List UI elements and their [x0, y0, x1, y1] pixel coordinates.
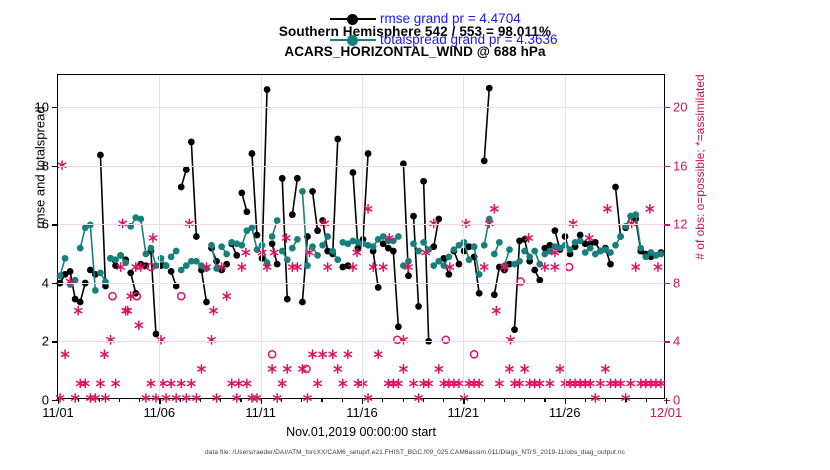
x-axis-minor-tick — [625, 398, 626, 402]
x-axis-tick-label: 11/16 — [346, 405, 378, 420]
legend-item-label: totalspread grand pr = 4.3636 — [380, 32, 558, 47]
gridline-horizontal — [58, 107, 664, 108]
gridline-vertical — [362, 75, 363, 398]
plot-area[interactable]: 024681004812162011/0111/0611/1111/1611/2… — [57, 74, 665, 399]
y-axis-left-tick — [52, 107, 58, 108]
x-axis-tick-label: 11/21 — [448, 405, 480, 420]
x-axis-minor-tick — [423, 398, 424, 402]
x-axis-tick-label: 11/26 — [549, 405, 581, 420]
x-axis-minor-tick — [403, 398, 404, 402]
x-axis-tick — [261, 398, 262, 404]
x-axis-minor-tick — [281, 398, 282, 402]
y-axis-right-label: # of obs: o=possible; *=assimilated — [693, 37, 707, 297]
x-axis-tick — [666, 398, 667, 404]
gridline-horizontal — [58, 341, 664, 342]
y-axis-left-tick-label: 10 — [35, 100, 49, 115]
y-axis-right-tick-label: 20 — [673, 100, 687, 115]
x-axis-tick — [463, 398, 464, 404]
x-axis-minor-tick — [139, 398, 140, 402]
x-axis-minor-tick — [605, 398, 606, 402]
x-axis-minor-tick — [443, 398, 444, 402]
x-axis-label: Nov.01,2019 00:00:00 start — [57, 425, 665, 439]
gridline-horizontal — [58, 224, 664, 225]
data-file-footer: data file: /Users/raeder/DAI/ATM_forcXX/… — [0, 449, 830, 456]
legend-item-totalspread[interactable]: totalspread grand pr = 4.3636 — [330, 29, 558, 50]
legend-marker-icon — [330, 34, 376, 46]
x-axis-minor-tick — [99, 398, 100, 402]
x-axis-minor-tick — [180, 398, 181, 402]
y-axis-right-tick — [664, 107, 670, 108]
x-axis-tick-label: 11/01 — [42, 405, 74, 420]
series-canvas — [58, 75, 664, 398]
x-axis-minor-tick — [119, 398, 120, 402]
x-axis-minor-tick — [544, 398, 545, 402]
y-axis-right-tick-label: 4 — [673, 334, 680, 349]
y-axis-left-tick-label: 6 — [42, 217, 49, 232]
gridline-vertical — [565, 75, 566, 398]
x-axis-minor-tick — [301, 398, 302, 402]
x-axis-minor-tick — [321, 398, 322, 402]
legend-item-rmse[interactable]: rmse grand pr = 4.4704 — [330, 8, 558, 29]
x-axis-minor-tick — [342, 398, 343, 402]
x-axis-minor-tick — [646, 398, 647, 402]
gridline-vertical — [261, 75, 262, 398]
x-axis-minor-tick — [585, 398, 586, 402]
y-axis-left-tick-label: 2 — [42, 334, 49, 349]
x-axis-tick-label: 12/01 — [650, 405, 683, 420]
y-axis-right-tick-label: 8 — [673, 275, 680, 290]
y-axis-right-tick — [664, 166, 670, 167]
x-axis-minor-tick — [504, 398, 505, 402]
obs-count-markers — [56, 161, 664, 402]
x-axis-tick-label: 11/11 — [245, 405, 276, 420]
gridline-vertical — [463, 75, 464, 398]
y-axis-left-tick — [52, 341, 58, 342]
x-axis-tick — [159, 398, 160, 404]
gridline-horizontal — [58, 283, 664, 284]
y-axis-left-tick — [52, 166, 58, 167]
x-axis-tick — [362, 398, 363, 404]
gridline-horizontal — [58, 166, 664, 167]
series-rmse — [57, 85, 665, 345]
legend-marker-icon — [330, 13, 376, 25]
x-axis-minor-tick — [484, 398, 485, 402]
x-axis-minor-tick — [524, 398, 525, 402]
y-axis-left-tick — [52, 224, 58, 225]
x-axis-minor-tick — [240, 398, 241, 402]
x-axis-tick — [58, 398, 59, 404]
x-axis-minor-tick — [78, 398, 79, 402]
gridline-vertical — [159, 75, 160, 398]
x-axis-minor-tick — [382, 398, 383, 402]
x-axis-tick-label: 11/06 — [144, 405, 176, 420]
x-axis-tick — [565, 398, 566, 404]
x-axis-minor-tick — [220, 398, 221, 402]
y-axis-left-tick-label: 4 — [42, 275, 49, 290]
y-axis-left-tick-label: 8 — [42, 158, 49, 173]
chart-legend: rmse grand pr = 4.4704totalspread grand … — [326, 6, 562, 52]
y-axis-left-tick — [52, 283, 58, 284]
x-axis-minor-tick — [200, 398, 201, 402]
y-axis-right-tick — [664, 224, 670, 225]
y-axis-right-tick-label: 16 — [673, 158, 687, 173]
legend-item-label: rmse grand pr = 4.4704 — [380, 11, 521, 26]
y-axis-right-tick — [664, 283, 670, 284]
y-axis-right-tick — [664, 341, 670, 342]
y-axis-right-tick-label: 12 — [673, 217, 687, 232]
series-totalspread — [57, 188, 665, 294]
